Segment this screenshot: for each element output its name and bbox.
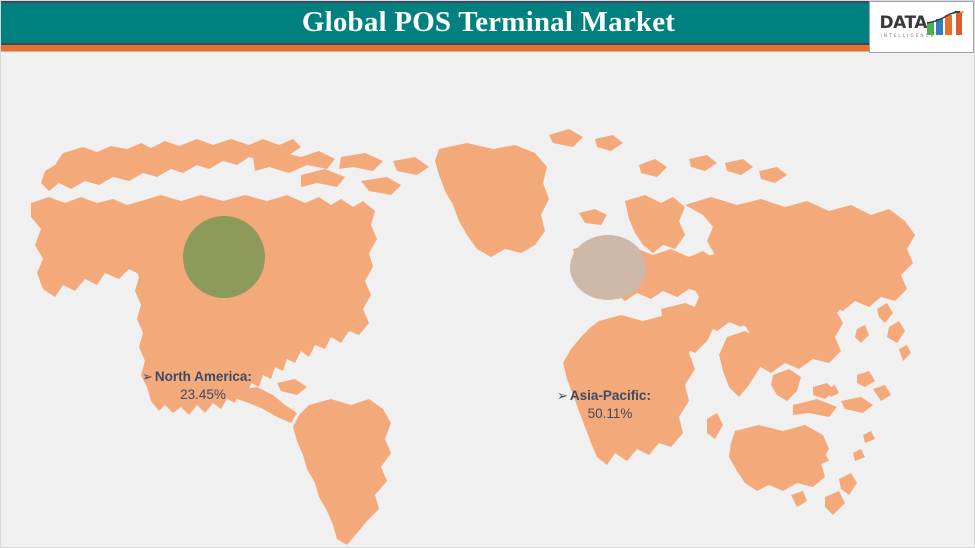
callout-asia-pacific-title: ➢Asia-Pacific:: [557, 388, 651, 405]
brand-wordmark: DATA: [880, 14, 927, 32]
world-map-container: [1, 53, 975, 548]
callout-north-america-label: North America:: [155, 369, 252, 384]
arrow-bullet-icon: ➢: [557, 389, 568, 404]
slide-canvas: ➢North America: 23.45% ➢Asia-Pacific: 50…: [0, 0, 975, 548]
callout-asia-pacific-value: 50.11%: [557, 405, 651, 422]
brand-logo-inner: DATA INTELLIGENCE: [878, 9, 966, 45]
callout-north-america-value: 23.45%: [142, 386, 252, 403]
bubble-north-america: [183, 216, 265, 298]
callout-asia-pacific-label: Asia-Pacific:: [570, 388, 651, 403]
callout-asia-pacific: ➢Asia-Pacific: 50.11%: [557, 388, 651, 422]
callout-north-america: ➢North America: 23.45%: [142, 369, 252, 403]
bar-chart-icon: [926, 11, 964, 35]
page-title: Global POS Terminal Market: [1, 1, 975, 45]
brand-logo[interactable]: DATA INTELLIGENCE: [869, 1, 974, 53]
accent-stripe: [1, 45, 975, 52]
callout-north-america-title: ➢North America:: [142, 369, 252, 386]
world-map-graphic: [1, 53, 975, 548]
arrow-bullet-icon: ➢: [142, 370, 153, 385]
bubble-asia-pacific: [570, 235, 646, 300]
